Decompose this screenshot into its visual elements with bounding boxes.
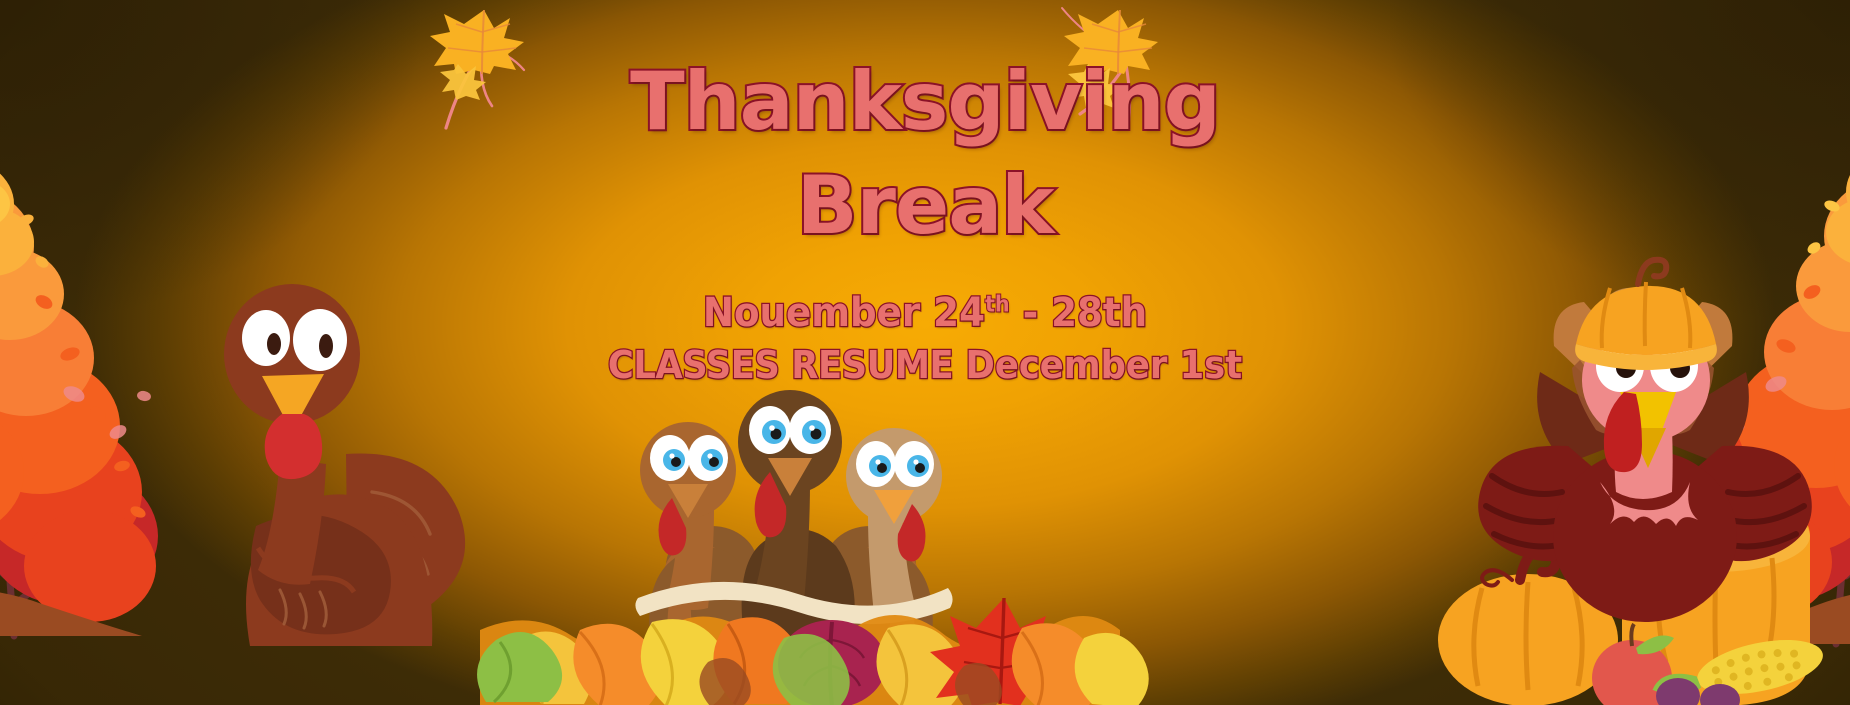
maple-leaf-falling-right-illustration — [1052, 2, 1182, 142]
turkey-left-illustration — [196, 246, 466, 646]
turkey-right-pumpkin-hat-illustration — [1480, 268, 1810, 598]
thanksgiving-break-banner: Thanksgiving Break Nouember 24th - 28th … — [0, 0, 1850, 705]
fallen-leaf-pile-illustration — [480, 502, 1120, 705]
maple-leaf-falling-left-illustration — [424, 8, 544, 138]
